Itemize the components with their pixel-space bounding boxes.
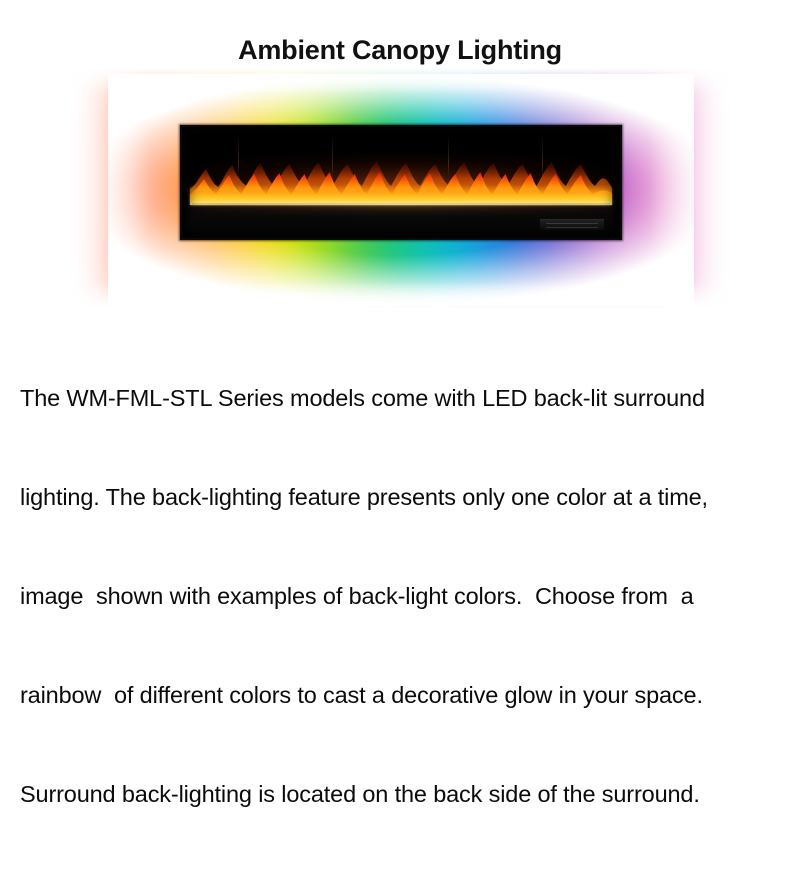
halo-fade-top	[0, 68, 800, 94]
page-title: Ambient Canopy Lighting	[0, 36, 800, 66]
fireplace-bezel	[180, 125, 622, 240]
description-line: rainbow of different colors to cast a de…	[20, 679, 786, 712]
description-line: Surround back-lighting is located on the…	[20, 778, 786, 811]
description-line: image shown with examples of back-light …	[20, 580, 786, 613]
description-line: The WM-FML-STL Series models come with L…	[20, 382, 786, 415]
page-root: Ambient Canopy Lighting	[0, 0, 800, 533]
halo-fade-bottom	[0, 282, 800, 308]
description-paragraph: The WM-FML-STL Series models come with L…	[20, 316, 786, 877]
description-line: lighting. The back-lighting feature pres…	[20, 481, 786, 514]
fireplace-unit	[180, 125, 622, 240]
halo-fade-right	[650, 68, 800, 308]
halo-fade-left	[0, 68, 150, 308]
product-image	[0, 68, 800, 308]
